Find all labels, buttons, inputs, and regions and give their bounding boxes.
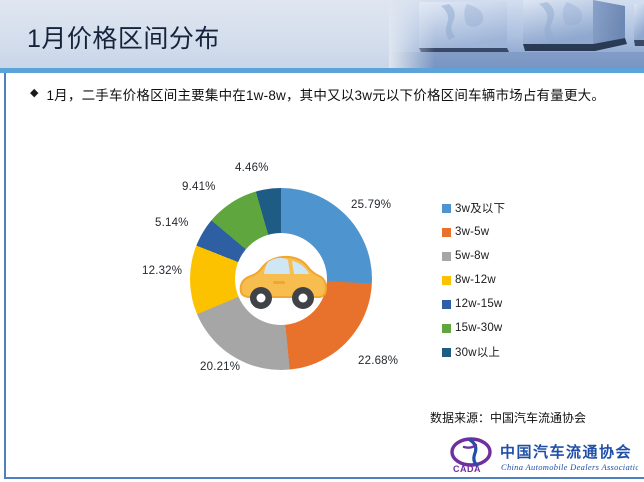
legend-label: 30w以上: [455, 344, 500, 360]
pct-label-12w-15w: 5.14%: [155, 217, 189, 229]
legend-swatch-icon: [442, 348, 451, 357]
pct-label-30w-and-above: 4.46%: [235, 162, 269, 174]
legend-item-30w-and-above[interactable]: 30w以上: [442, 340, 572, 364]
logo-english-name: China Automobile Dealers Association: [501, 462, 638, 472]
legend-item-5w-8w[interactable]: 5w-8w: [442, 244, 572, 268]
logo-chinese-name: 中国汽车流通协会: [500, 443, 632, 461]
legend-swatch-icon: [442, 300, 451, 309]
legend-label: 3w及以下: [455, 200, 505, 216]
legend-swatch-icon: [442, 204, 451, 213]
legend-item-15w-30w[interactable]: 15w-30w: [442, 316, 572, 340]
legend-swatch-icon: [442, 324, 451, 333]
legend-label: 15w-30w: [455, 322, 502, 334]
header-accent-rule: [0, 68, 644, 73]
legend-swatch-icon: [442, 228, 451, 237]
pct-label-8w-12w: 12.32%: [142, 265, 182, 277]
car-icon: [235, 240, 327, 318]
legend-swatch-icon: [442, 276, 451, 285]
legend-item-8w-12w[interactable]: 8w-12w: [442, 268, 572, 292]
legend-label: 12w-15w: [455, 298, 502, 310]
pct-label-5w-8w: 20.21%: [200, 361, 240, 373]
left-border-rule: [4, 73, 6, 477]
legend-label: 8w-12w: [455, 274, 496, 286]
summary-text: 1月，二手车价格区间主要集中在1w-8w，其中又以3w元以下价格区间车辆市场占有…: [46, 83, 605, 109]
data-source-note: 数据来源：中国汽车流通协会: [430, 409, 586, 426]
pct-label-3w-and-below: 25.79%: [351, 199, 391, 211]
legend-item-3w-and-below[interactable]: 3w及以下: [442, 196, 572, 220]
cada-logo: CADA 中国汽车流通协会 China Automobile Dealers A…: [448, 437, 638, 475]
bottom-border-rule: [4, 477, 644, 479]
summary-paragraph: ◆ 1月，二手车价格区间主要集中在1w-8w，其中又以3w元以下价格区间车辆市场…: [30, 83, 620, 109]
bullet-diamond-icon: ◆: [30, 83, 38, 103]
legend-item-3w-5w[interactable]: 3w-5w: [442, 220, 572, 244]
slide-root: 1月价格区间分布 ◆ 1月，二手车价格区间主要集中在1w-8w，其中又以3w元以…: [0, 0, 644, 482]
legend-item-12w-15w[interactable]: 12w-15w: [442, 292, 572, 316]
chart-legend: 3w及以下 3w-5w 5w-8w 8w-12w 12w-15w 15w-30w…: [442, 196, 572, 364]
header-decoration-image: [389, 0, 644, 68]
legend-label: 3w-5w: [455, 226, 489, 238]
svg-text:CADA: CADA: [453, 464, 481, 474]
legend-label: 5w-8w: [455, 250, 489, 262]
page-title: 1月价格区间分布: [27, 19, 220, 55]
donut-graphic: [190, 188, 372, 370]
pct-label-3w-5w: 22.68%: [358, 355, 398, 367]
legend-swatch-icon: [442, 252, 451, 261]
pct-label-15w-30w: 9.41%: [182, 181, 216, 193]
slide-header: 1月价格区间分布: [0, 0, 644, 68]
